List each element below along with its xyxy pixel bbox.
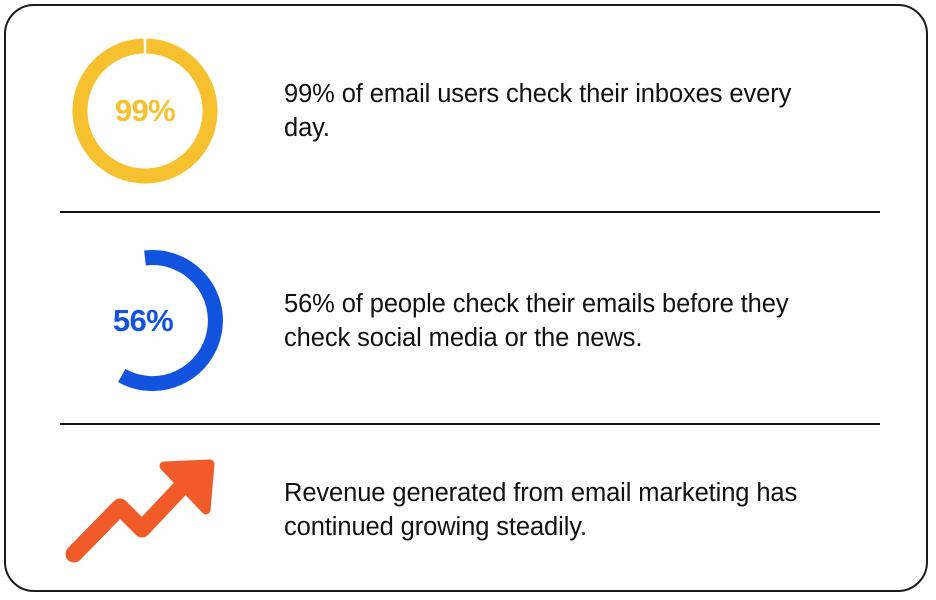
row-divider-1 xyxy=(60,211,880,213)
stat-text-email-before-social: 56% of people check their emails before … xyxy=(284,287,829,355)
text-cell-1: 99% of email users check their inboxes e… xyxy=(284,77,926,145)
stat-row-email-before-social: 56% 56% of people check their emails bef… xyxy=(6,218,926,424)
text-cell-3: Revenue generated from email marketing h… xyxy=(284,476,926,544)
row-divider-2 xyxy=(60,423,880,425)
visual-cell-3 xyxy=(6,450,284,570)
stat-text-revenue-growth: Revenue generated from email marketing h… xyxy=(284,476,829,544)
stat-row-email-daily: 99% 99% of email users check their inbox… xyxy=(6,12,926,210)
donut-chart-56-percent: 56% xyxy=(65,241,225,401)
text-cell-2: 56% of people check their emails before … xyxy=(284,287,926,355)
stat-row-revenue-growth: Revenue generated from email marketing h… xyxy=(6,430,926,590)
infographic-card: 99% 99% of email users check their inbox… xyxy=(4,4,928,592)
visual-cell-1: 99% xyxy=(6,31,284,191)
growth-arrow-icon xyxy=(58,450,228,570)
visual-cell-2: 56% xyxy=(6,241,284,401)
stat-text-email-daily: 99% of email users check their inboxes e… xyxy=(284,77,829,145)
donut-chart-99-percent: 99% xyxy=(65,31,225,191)
